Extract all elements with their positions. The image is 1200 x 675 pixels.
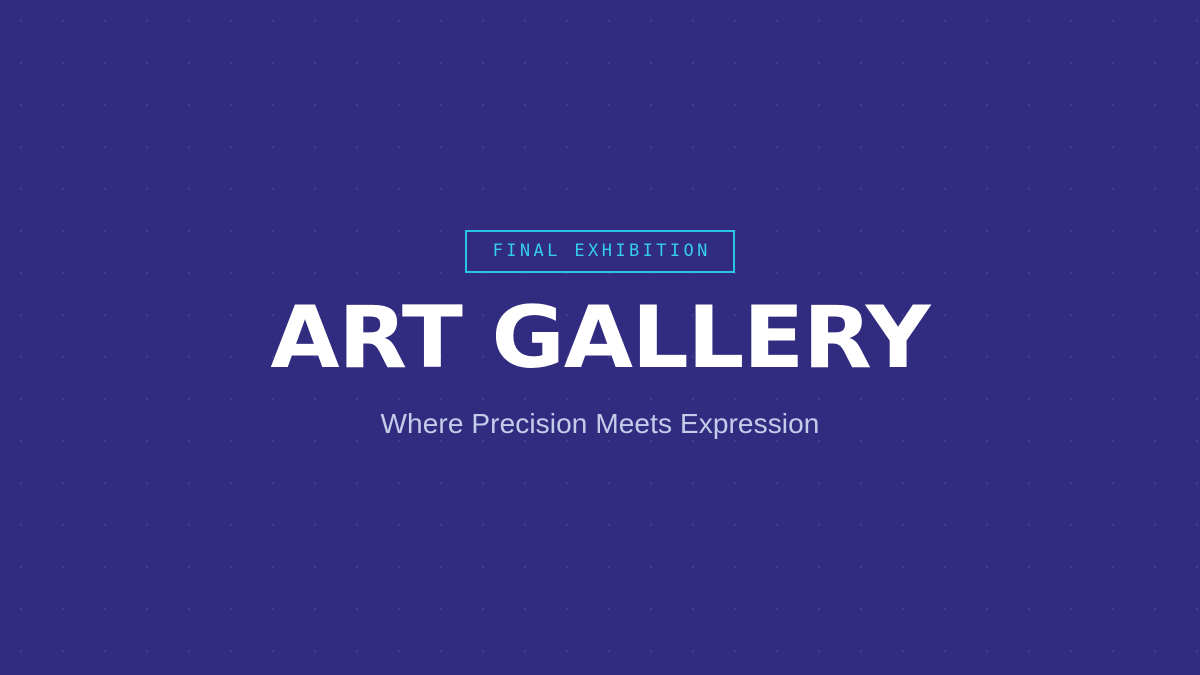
- subtitle-tagline: Where Precision Meets Expression: [381, 407, 820, 441]
- eyebrow-badge: FINAL EXHIBITION: [465, 230, 735, 273]
- slide-content: FINAL EXHIBITION ART GALLERY Where Preci…: [0, 0, 1200, 675]
- page-title: ART GALLERY: [271, 295, 930, 381]
- eyebrow-badge-label: FINAL EXHIBITION: [489, 243, 711, 260]
- title-slide: FINAL EXHIBITION ART GALLERY Where Preci…: [0, 0, 1200, 675]
